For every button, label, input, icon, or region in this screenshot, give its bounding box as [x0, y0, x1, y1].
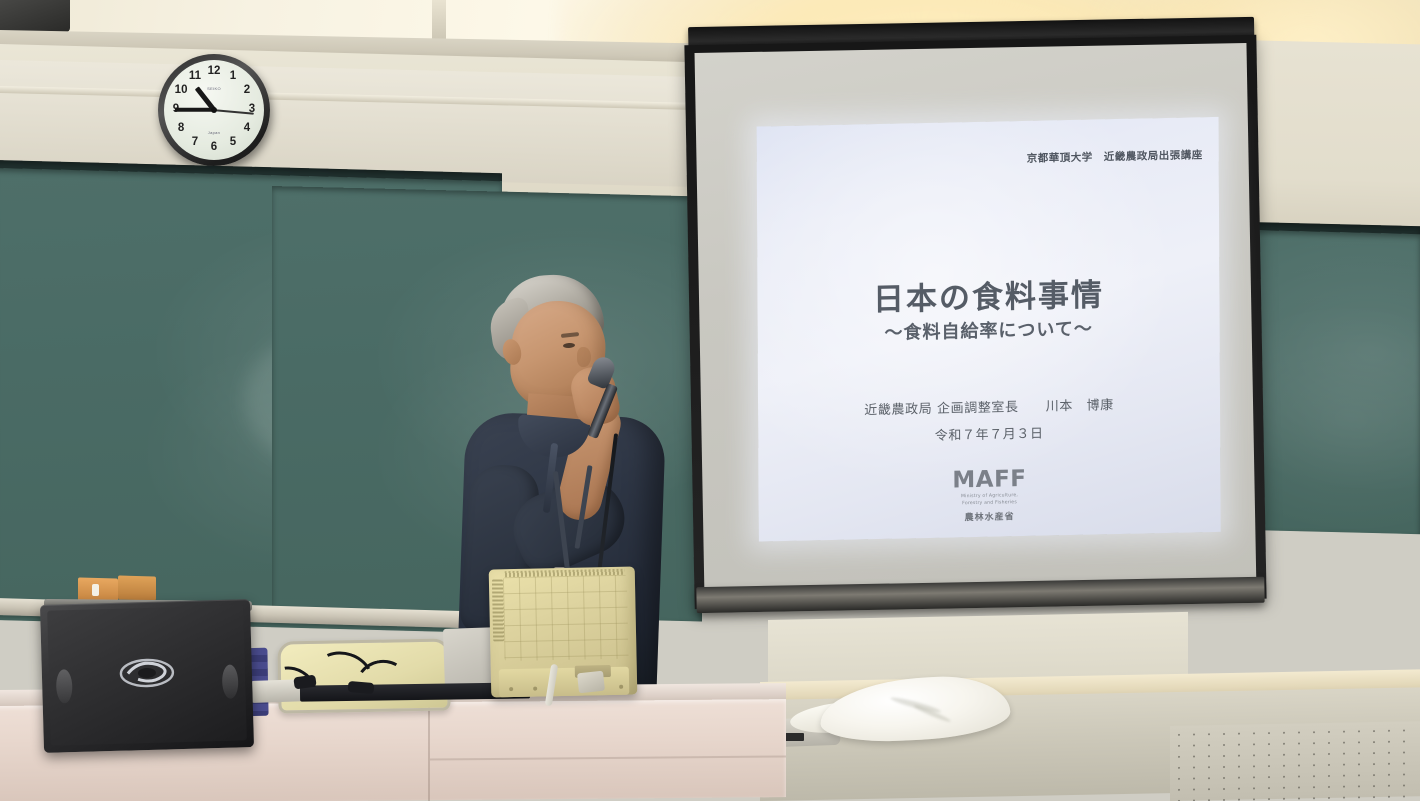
- monitor-back-grid: [503, 575, 629, 662]
- perforation-dot: [1403, 729, 1405, 731]
- clock-minute-hand: [175, 108, 214, 112]
- perforation-dot: [1373, 785, 1375, 787]
- perforation-dot: [1313, 731, 1315, 733]
- perforation-dot: [1268, 743, 1270, 745]
- perforation-dot: [1208, 755, 1210, 757]
- perforation-dot: [1193, 734, 1195, 736]
- perforation-dot: [1238, 744, 1240, 746]
- lecture-hall-photo: SEIKO Japan 121234567891011 京都華頂大学 近畿農政局…: [0, 0, 1420, 801]
- perforation-dot: [1268, 754, 1270, 756]
- perforation-dot: [1328, 731, 1330, 733]
- perforation-dot: [1373, 763, 1375, 765]
- perforation-dot: [1223, 777, 1225, 779]
- clock-brand-bottom: Japan: [208, 130, 220, 135]
- perforation-dot: [1178, 734, 1180, 736]
- perforation-dot: [1178, 789, 1180, 791]
- ceiling-corner-fixture: [0, 0, 70, 32]
- perforation-dot: [1178, 745, 1180, 747]
- perforation-dot: [1313, 742, 1315, 744]
- perforation-dot: [1253, 798, 1255, 800]
- perforation-dot: [1223, 733, 1225, 735]
- clock-numeral: 7: [188, 137, 202, 149]
- perforation-dot: [1343, 764, 1345, 766]
- lectern-seam: [428, 706, 430, 801]
- perforation-dot: [1403, 740, 1405, 742]
- perforation-dot: [1193, 756, 1195, 758]
- laptop-swirl-logo-icon: [117, 652, 176, 694]
- monitor-screw: [619, 685, 623, 689]
- perforation-dot: [1193, 767, 1195, 769]
- perforation-dot: [1388, 752, 1390, 754]
- perforation-dot: [1283, 743, 1285, 745]
- perforation-dot: [1313, 753, 1315, 755]
- perforation-dot: [1298, 798, 1300, 800]
- perforation-dot: [1298, 776, 1300, 778]
- monitor-screw: [533, 687, 537, 691]
- clock-brand-top: SEIKO: [207, 86, 221, 91]
- perforation-dot: [1238, 788, 1240, 790]
- perforation-dot: [1268, 732, 1270, 734]
- perforation-dot: [1358, 774, 1360, 776]
- perforation-dot: [1223, 744, 1225, 746]
- clock-numeral: 6: [207, 142, 221, 154]
- clock-numeral: 2: [240, 85, 254, 97]
- perforation-dot: [1253, 787, 1255, 789]
- black-laptop-lid: [40, 599, 254, 753]
- perforation-dot: [1253, 765, 1255, 767]
- perforation-dot: [1313, 764, 1315, 766]
- perforation-dot: [1343, 731, 1345, 733]
- perforation-dot: [1358, 763, 1360, 765]
- perforation-dot: [1343, 753, 1345, 755]
- clock-center-cap: [211, 107, 217, 113]
- slide-header-text: 京都華頂大学 近畿農政局出張講座: [1027, 147, 1203, 166]
- perforation-dot: [1253, 754, 1255, 756]
- perforation-dot: [1193, 745, 1195, 747]
- perforation-dot: [1298, 765, 1300, 767]
- beige-crt-monitor-rear: [489, 566, 638, 697]
- clock-face: SEIKO Japan 121234567891011: [164, 60, 264, 160]
- slide-date: 令和７年７月３日: [758, 419, 1220, 448]
- perforation-dot: [1253, 776, 1255, 778]
- monitor-plug: [577, 671, 605, 694]
- perforation-dot: [1238, 733, 1240, 735]
- perforation-dot: [1193, 778, 1195, 780]
- perforation-dot: [1298, 787, 1300, 789]
- device-label: [784, 733, 804, 741]
- perforation-dot: [1328, 775, 1330, 777]
- perforation-dot: [1358, 785, 1360, 787]
- perforation-dot: [1373, 774, 1375, 776]
- right-desk-perforated-panel: [1170, 721, 1420, 801]
- perforation-dot: [1388, 730, 1390, 732]
- perforation-dot: [1403, 773, 1405, 775]
- perforation-dot: [1403, 751, 1405, 753]
- perforation-dot: [1358, 796, 1360, 798]
- perforation-dot: [1328, 786, 1330, 788]
- pull-down-projection-screen: 京都華頂大学 近畿農政局出張講座 日本の食料事情 ～食料自給率について～ 近畿農…: [684, 17, 1267, 627]
- perforation-dot: [1373, 730, 1375, 732]
- wall-clock: SEIKO Japan 121234567891011: [158, 54, 270, 166]
- perforation-dot: [1253, 732, 1255, 734]
- presenter-nose: [577, 347, 591, 367]
- perforation-dot: [1283, 765, 1285, 767]
- perforation-dot: [1298, 732, 1300, 734]
- perforation-dot: [1358, 741, 1360, 743]
- perforation-dot: [1403, 762, 1405, 764]
- perforation-dot: [1238, 755, 1240, 757]
- perforation-dot: [1328, 742, 1330, 744]
- perforation-dot: [1388, 774, 1390, 776]
- perforation-dot: [1343, 742, 1345, 744]
- chalk-piece: [92, 584, 99, 596]
- perforation-dot: [1178, 767, 1180, 769]
- perforation-dot: [1223, 766, 1225, 768]
- cable-connector: [348, 681, 375, 694]
- clock-numeral: 5: [226, 137, 240, 149]
- perforation-dot: [1388, 763, 1390, 765]
- perforation-dot: [1178, 756, 1180, 758]
- perforation-dot: [1328, 764, 1330, 766]
- perforation-dot: [1388, 785, 1390, 787]
- perforation-dot: [1283, 732, 1285, 734]
- perforation-dot: [1193, 789, 1195, 791]
- clock-numeral: 4: [240, 123, 254, 135]
- maff-logo: MAFF Ministry of Agriculture, Forestry a…: [758, 462, 1220, 528]
- perforation-dot: [1268, 765, 1270, 767]
- perforation-dot: [1298, 754, 1300, 756]
- perforation-dot: [1343, 775, 1345, 777]
- perforation-dot: [1268, 776, 1270, 778]
- perforation-dot: [1403, 795, 1405, 797]
- perforation-dot: [1238, 777, 1240, 779]
- perforation-dot: [1208, 788, 1210, 790]
- perforation-dot: [1388, 796, 1390, 798]
- clock-numeral: 10: [174, 85, 188, 97]
- perforation-dot: [1178, 778, 1180, 780]
- perforation-dot: [1283, 754, 1285, 756]
- perforation-dot: [1388, 741, 1390, 743]
- perforation-dot: [1208, 766, 1210, 768]
- perforation-dot: [1328, 753, 1330, 755]
- perforation-dot: [1268, 798, 1270, 800]
- perforation-dot: [1253, 743, 1255, 745]
- perforation-dot: [1298, 743, 1300, 745]
- perforation-dot: [1343, 797, 1345, 799]
- monitor-side-vent: [492, 579, 504, 641]
- perforation-dot: [1343, 786, 1345, 788]
- perforation-dot: [1238, 799, 1240, 801]
- perforation-dot: [1358, 730, 1360, 732]
- perforation-dot: [1223, 788, 1225, 790]
- perforation-dot: [1208, 733, 1210, 735]
- clock-numeral: 11: [188, 71, 202, 83]
- perforation-dot: [1268, 787, 1270, 789]
- clock-numeral: 8: [174, 123, 188, 135]
- perforation-dot: [1403, 784, 1405, 786]
- chalkboard-right: [1248, 230, 1420, 534]
- perforation-dot: [1283, 787, 1285, 789]
- perforation-dot: [1358, 752, 1360, 754]
- chalk-box: [118, 575, 156, 600]
- perforation-dot: [1283, 798, 1285, 800]
- projected-slide: 京都華頂大学 近畿農政局出張講座 日本の食料事情 ～食料自給率について～ 近畿農…: [757, 117, 1221, 542]
- perforation-dot: [1373, 752, 1375, 754]
- perforation-dot: [1313, 786, 1315, 788]
- monitor-screw: [509, 687, 513, 691]
- perforation-dot: [1313, 797, 1315, 799]
- right-upper-wall: [1240, 40, 1420, 239]
- perforation-dot: [1373, 796, 1375, 798]
- perforation-dot: [1208, 777, 1210, 779]
- ceiling-panel-edge: [432, 0, 446, 40]
- perforation-dot: [1313, 775, 1315, 777]
- perforation-dot: [1283, 776, 1285, 778]
- perforation-dot: [1208, 744, 1210, 746]
- clock-numeral: 1: [226, 71, 240, 83]
- slide-presenter: 近畿農政局 企画調整室長 川本 博康: [758, 392, 1220, 421]
- perforation-dot: [1373, 741, 1375, 743]
- perforation-dot: [1238, 766, 1240, 768]
- perforation-dot: [1328, 797, 1330, 799]
- clock-numeral: 12: [207, 66, 221, 78]
- perforation-dot: [1223, 755, 1225, 757]
